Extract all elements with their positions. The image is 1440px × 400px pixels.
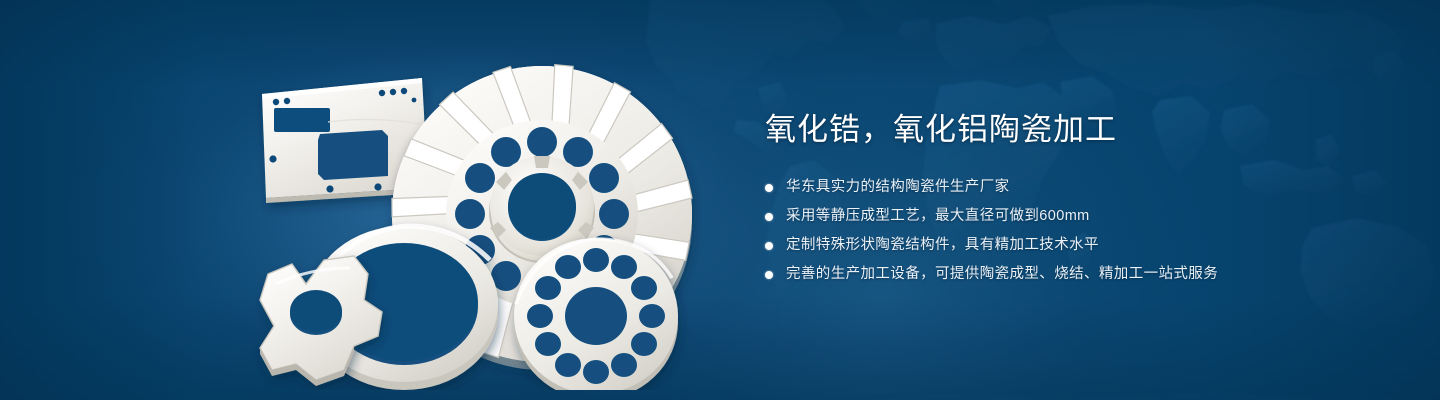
list-item-label: 定制特殊形状陶瓷结构件，具有精加工技术水平 [786,233,1099,258]
list-item-label: 采用等静压成型工艺，最大直径可做到600mm [786,204,1090,229]
list-item: 定制特殊形状陶瓷结构件，具有精加工技术水平 [765,233,1325,258]
page-title: 氧化锆，氧化铝陶瓷加工 [765,108,1325,152]
bullet-dot-icon [765,242,773,250]
list-item-label: 完善的生产加工设备，可提供陶瓷成型、烧结、精加工一站式服务 [786,262,1218,287]
ceramic-perforated-disc [514,238,678,390]
feature-list: 华东具实力的结构陶瓷件生产厂家 采用等静压成型工艺，最大直径可做到600mm 定… [765,175,1325,287]
bullet-dot-icon [765,213,773,221]
list-item-label: 华东具实力的结构陶瓷件生产厂家 [786,175,1010,200]
ceramic-products-image [232,42,702,390]
list-item: 采用等静压成型工艺，最大直径可做到600mm [765,204,1325,229]
banner-copy: 氧化锆，氧化铝陶瓷加工 华东具实力的结构陶瓷件生产厂家 采用等静压成型工艺，最大… [765,108,1325,291]
bullet-dot-icon [765,271,773,279]
bullet-dot-icon [765,184,773,192]
list-item: 完善的生产加工设备，可提供陶瓷成型、烧结、精加工一站式服务 [765,262,1325,287]
hero-banner: 氧化锆，氧化铝陶瓷加工 华东具实力的结构陶瓷件生产厂家 采用等静压成型工艺，最大… [0,0,1440,400]
list-item: 华东具实力的结构陶瓷件生产厂家 [765,175,1325,200]
